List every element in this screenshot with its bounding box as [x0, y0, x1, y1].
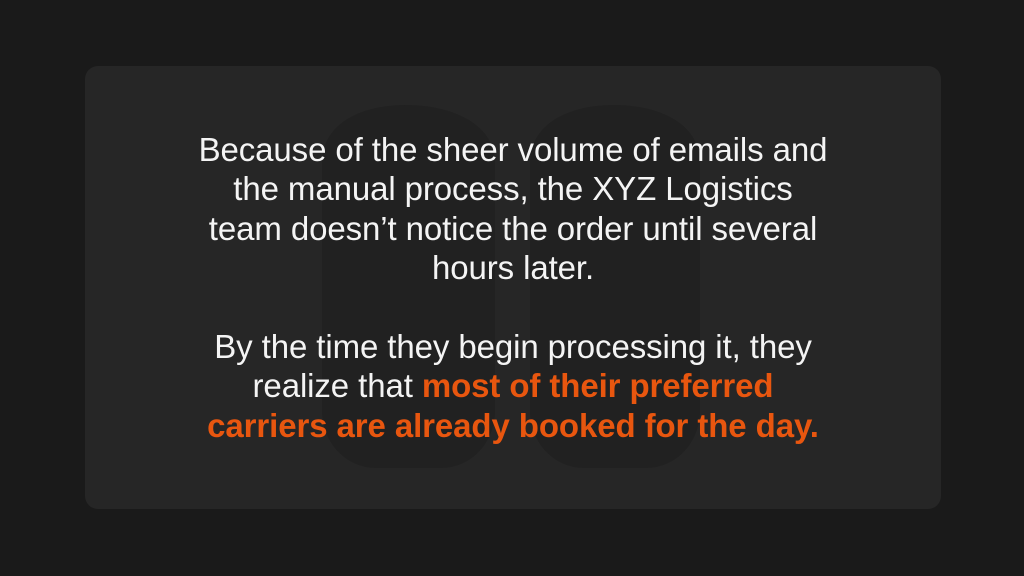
quote-content: Because of the sheer volume of emails an… [85, 66, 941, 509]
quote-paragraph-one: Because of the sheer volume of emails an… [199, 131, 828, 287]
slide-canvas: Because of the sheer volume of emails an… [0, 0, 1024, 576]
paragraph-spacer [193, 288, 833, 327]
quote-text-block: Because of the sheer volume of emails an… [193, 130, 833, 446]
quote-card: Because of the sheer volume of emails an… [85, 66, 941, 509]
